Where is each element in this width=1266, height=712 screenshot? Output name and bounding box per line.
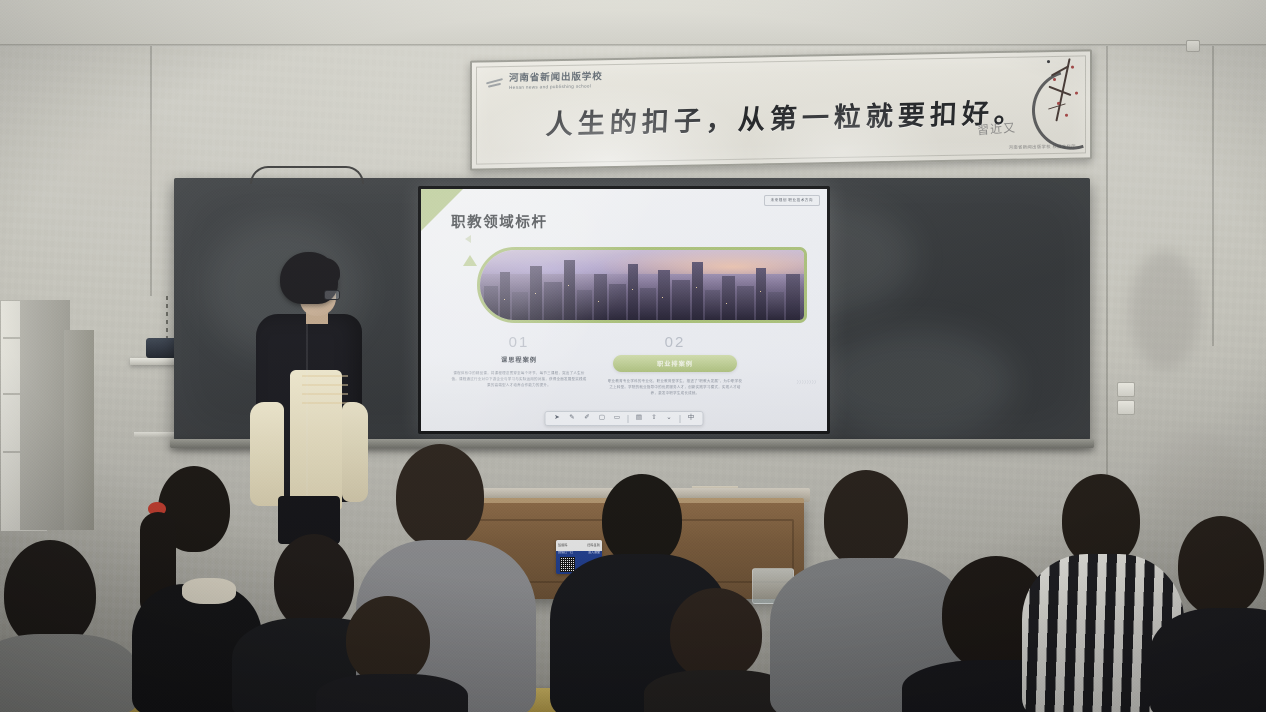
hero-arrow-icon	[463, 255, 477, 266]
student-torso	[1150, 608, 1266, 712]
building	[577, 290, 592, 320]
building	[722, 276, 735, 320]
building	[786, 274, 800, 320]
column-heading: 课思程案例	[447, 355, 591, 364]
wall-seam-far-right	[1212, 46, 1214, 346]
smart-display[interactable]: 未来规划 职业技术方向 职教领域标杆	[418, 186, 830, 434]
hanging-wire	[166, 296, 168, 340]
building	[564, 260, 575, 320]
slide-column-01: 01 课思程案例 课程体系中的精品课，将课程理念贯穿至每个环节，每节三课程，突出…	[447, 335, 591, 397]
chevron-group: 〉〉〉〉〉〉〉〉	[796, 379, 819, 386]
window-light	[696, 287, 697, 288]
chalk-smudge-c	[814, 328, 1014, 438]
student-head	[396, 444, 484, 548]
student-head	[1062, 474, 1140, 566]
logo-mark-icon	[486, 75, 503, 90]
wall-switch-lower[interactable]	[1117, 400, 1135, 415]
window-light	[760, 291, 761, 292]
building	[737, 286, 754, 320]
wall-scuff-a	[1130, 250, 1200, 370]
student-torso	[0, 634, 136, 712]
wall-panel-left	[20, 300, 70, 530]
audience-student	[320, 596, 460, 712]
column-number: 01	[447, 335, 591, 352]
wall-scuff-c	[60, 120, 180, 200]
audience-student	[0, 540, 120, 712]
slide-columns: 01 课思程案例 课程体系中的精品课，将课程理念贯穿至每个环节，每节三课程，突出…	[447, 335, 747, 397]
window-light	[504, 299, 505, 300]
building	[544, 282, 562, 320]
student-head	[1178, 516, 1264, 616]
wall-seam-right	[1106, 46, 1108, 476]
toolbar-separator-1	[628, 415, 629, 423]
student-head	[346, 596, 430, 684]
ime-toggle-icon[interactable]: 中	[687, 414, 696, 423]
hero-tick-icon	[465, 235, 471, 243]
window-light	[662, 297, 663, 298]
column-heading-highlighted: 职业排案例	[613, 355, 737, 372]
slide-title: 职教领域标杆	[451, 211, 548, 232]
wall-banner: 河南省新闻出版学校 Henan news and publishing scho…	[470, 49, 1092, 170]
shape-tool-icon[interactable]: ▭	[613, 414, 622, 423]
window-light	[632, 289, 633, 290]
power-cable	[250, 166, 364, 184]
building	[705, 290, 720, 320]
building	[500, 272, 510, 320]
eraser-tool-icon[interactable]: ▢	[598, 414, 607, 423]
slide-badge: 未来规划 职业技术方向	[764, 195, 820, 206]
plum-flower-6	[1047, 60, 1050, 63]
window-light	[489, 309, 490, 310]
column-body: 职业教育专业学科的专业化，职业教育型学生，推进了"职教大发展"，为中职学校之上转…	[603, 378, 747, 397]
presentation-slide[interactable]: 未来规划 职业技术方向 职教领域标杆	[421, 189, 827, 431]
cursor-tool-icon[interactable]: ➤	[553, 414, 562, 423]
plum-blossom-artwork	[994, 51, 1086, 153]
city-skyline	[480, 250, 804, 320]
slide-hero-image	[477, 247, 807, 323]
presenter-hoodie-print	[302, 370, 348, 404]
wall-switch-upper[interactable]	[1117, 382, 1135, 397]
chevron-down-icon[interactable]: ⌄	[665, 414, 674, 423]
logo-text-block: 河南省新闻出版学校 Henan news and publishing scho…	[509, 72, 603, 90]
student-presenter	[250, 252, 368, 540]
column-body: 课程体系中的精品课，将课程理念贯穿至每个环节，每节三课程，突出了人生价值。课程通…	[447, 370, 591, 389]
slide-annotation-toolbar[interactable]: ➤ ✎ ✐ ▢ ▭ ▤ ⇧ ⌄ 中	[545, 411, 704, 426]
building	[594, 274, 607, 320]
building	[609, 284, 626, 320]
ceiling-trim	[0, 44, 1266, 47]
building	[756, 268, 766, 320]
presenter-glasses	[324, 290, 340, 300]
building	[484, 286, 498, 320]
chevron-arrows: 〉〉〉〉〉〉〉〉	[796, 379, 819, 386]
classroom-photo: 河南省新闻出版学校 Henan news and publishing scho…	[0, 0, 1266, 712]
student-collar	[182, 578, 236, 604]
wall-panel-left-2	[64, 330, 94, 530]
presenter-zip	[306, 322, 308, 498]
building	[672, 280, 690, 320]
school-logo: 河南省新闻出版学校 Henan news and publishing scho…	[486, 72, 603, 90]
column-number: 02	[603, 335, 747, 352]
building	[658, 270, 670, 320]
pen-tool-icon[interactable]: ✎	[568, 414, 577, 423]
building	[640, 288, 656, 320]
upload-tool-icon[interactable]: ⇧	[650, 414, 659, 423]
student-head	[824, 470, 908, 568]
window-light	[598, 301, 599, 302]
slide-column-02: 02 职业排案例 职业教育专业学科的专业化，职业教育型学生，推进了"职教大发展"…	[603, 335, 747, 397]
plum-flower-1	[1071, 66, 1074, 69]
presenter-fringe	[290, 258, 340, 284]
student-head	[670, 588, 762, 680]
wall-socket[interactable]	[1186, 40, 1200, 52]
audience-student	[640, 588, 790, 712]
presenter-sleeve-right	[342, 402, 368, 502]
school-name-cn: 河南省新闻出版学校	[509, 72, 603, 84]
plum-flower-3	[1075, 92, 1078, 95]
window-light	[568, 285, 569, 286]
building	[530, 266, 542, 320]
student-head	[602, 474, 682, 566]
building	[512, 292, 528, 320]
window-light	[535, 293, 536, 294]
highlighter-tool-icon[interactable]: ✐	[583, 414, 592, 423]
ceiling	[0, 0, 1266, 46]
building	[628, 264, 638, 320]
crescent-moon-icon	[1018, 56, 1086, 153]
page-tool-icon[interactable]: ▤	[635, 414, 644, 423]
window-light	[726, 303, 727, 304]
student-head	[4, 540, 96, 648]
student-torso	[316, 674, 468, 712]
plum-flower-4	[1057, 102, 1060, 105]
building	[768, 292, 784, 320]
audience-student	[1160, 516, 1266, 712]
building	[692, 262, 703, 320]
toolbar-separator-2	[680, 415, 681, 423]
